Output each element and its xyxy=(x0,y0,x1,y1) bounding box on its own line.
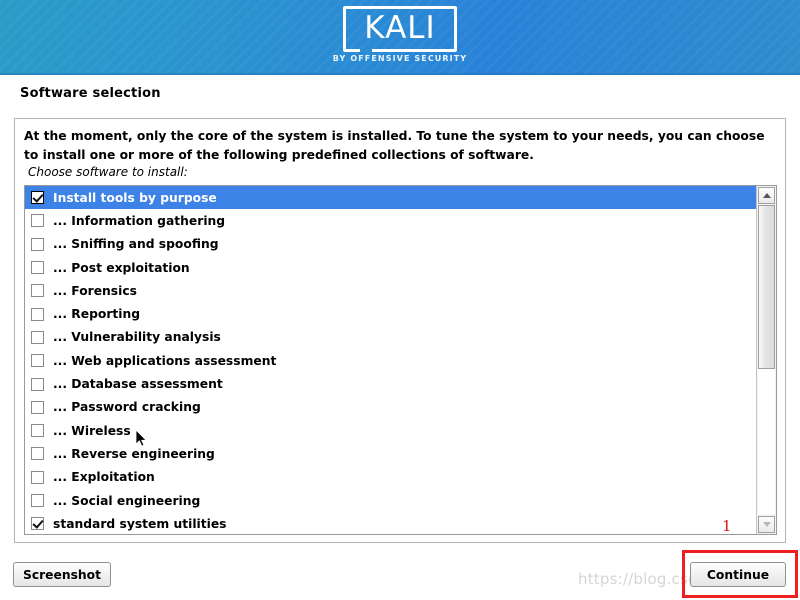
list-item-label: ... Vulnerability analysis xyxy=(53,330,221,344)
banner-divider xyxy=(0,73,800,75)
checkbox-icon[interactable] xyxy=(31,471,44,484)
scrollbar-thumb[interactable] xyxy=(758,205,775,369)
software-listbox[interactable]: Install tools by purpose... Information … xyxy=(24,185,777,535)
list-item[interactable]: ... Sniffing and spoofing xyxy=(25,233,756,256)
list-item-label: ... Wireless xyxy=(53,424,131,438)
kali-logo: KALI xyxy=(343,6,457,52)
checkbox-icon[interactable] xyxy=(31,284,44,297)
checkbox-icon[interactable] xyxy=(31,494,44,507)
checkbox-icon[interactable] xyxy=(31,214,44,227)
checkbox-icon[interactable] xyxy=(31,261,44,274)
listbox-scrollbar[interactable] xyxy=(756,186,776,534)
list-item[interactable]: ... Database assessment xyxy=(25,372,756,395)
checkbox-icon[interactable] xyxy=(31,424,44,437)
list-item-label: Install tools by purpose xyxy=(53,191,217,205)
kali-logo-text: KALI xyxy=(346,9,454,49)
list-item-label: ... Sniffing and spoofing xyxy=(53,237,219,251)
software-list[interactable]: Install tools by purpose... Information … xyxy=(25,186,756,534)
list-item-label: ... Social engineering xyxy=(53,494,200,508)
page-title: Software selection xyxy=(20,86,161,101)
scroll-up-button[interactable] xyxy=(758,187,775,204)
checkbox-icon[interactable] xyxy=(31,238,44,251)
list-item[interactable]: ... Forensics xyxy=(25,279,756,302)
kali-logo-subtitle: BY OFFENSIVE SECURITY xyxy=(330,54,470,63)
chevron-down-icon xyxy=(763,522,771,527)
list-item[interactable]: standard system utilities xyxy=(25,512,756,534)
scroll-down-button[interactable] xyxy=(758,516,775,533)
list-item[interactable]: ... Exploitation xyxy=(25,466,756,489)
checkbox-icon[interactable] xyxy=(31,354,44,367)
checkbox-icon[interactable] xyxy=(31,308,44,321)
installer-screen: KALI BY OFFENSIVE SECURITY Software sele… xyxy=(0,0,800,600)
checkbox-icon[interactable] xyxy=(31,401,44,414)
intro-text: At the moment, only the core of the syst… xyxy=(24,127,772,165)
chevron-up-icon xyxy=(763,193,771,198)
list-item[interactable]: ... Information gathering xyxy=(25,209,756,232)
list-item[interactable]: ... Post exploitation xyxy=(25,256,756,279)
list-item-label: ... Database assessment xyxy=(53,377,223,391)
list-item-label: ... Web applications assessment xyxy=(53,354,276,368)
list-item[interactable]: ... Reverse engineering xyxy=(25,442,756,465)
list-item-label: ... Information gathering xyxy=(53,214,225,228)
list-item-label: standard system utilities xyxy=(53,517,227,531)
kali-banner: KALI BY OFFENSIVE SECURITY xyxy=(0,0,800,75)
continue-button[interactable]: Continue xyxy=(690,562,786,587)
list-item-label: ... Reverse engineering xyxy=(53,447,215,461)
checkbox-icon[interactable] xyxy=(31,378,44,391)
list-item[interactable]: ... Reporting xyxy=(25,302,756,325)
list-item[interactable]: Install tools by purpose xyxy=(25,186,756,209)
list-item-label: ... Post exploitation xyxy=(53,261,190,275)
list-item[interactable]: ... Social engineering xyxy=(25,489,756,512)
scrollbar-track[interactable] xyxy=(758,205,775,514)
content-panel: At the moment, only the core of the syst… xyxy=(14,118,786,543)
checkbox-icon[interactable] xyxy=(31,331,44,344)
list-item[interactable]: ... Web applications assessment xyxy=(25,349,756,372)
list-item-label: ... Reporting xyxy=(53,307,140,321)
annotation-step-number: 1 xyxy=(722,519,732,534)
list-item-label: ... Password cracking xyxy=(53,400,201,414)
checkbox-checked-icon[interactable] xyxy=(31,517,44,530)
list-item[interactable]: ... Wireless xyxy=(25,419,756,442)
checkbox-icon[interactable] xyxy=(31,447,44,460)
list-item[interactable]: ... Vulnerability analysis xyxy=(25,326,756,349)
list-item-label: ... Forensics xyxy=(53,284,137,298)
checkbox-checked-icon[interactable] xyxy=(31,191,44,204)
kali-logo-notch xyxy=(360,49,372,52)
list-item-label: ... Exploitation xyxy=(53,470,155,484)
screenshot-button[interactable]: Screenshot xyxy=(13,562,111,587)
list-item[interactable]: ... Password cracking xyxy=(25,396,756,419)
choose-software-label: Choose software to install: xyxy=(28,165,188,179)
